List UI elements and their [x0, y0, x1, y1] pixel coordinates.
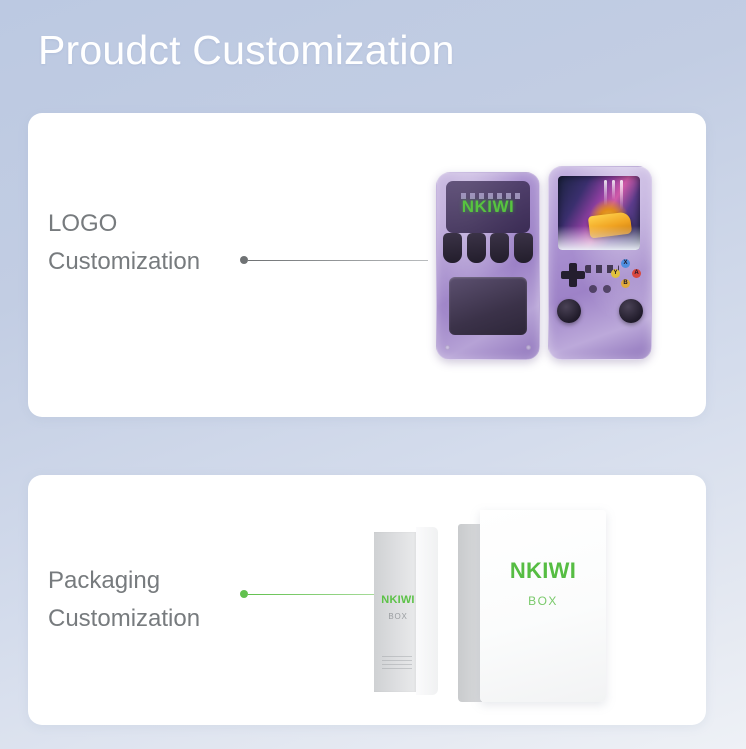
console-analog-stick-right — [619, 299, 643, 323]
screen-snow-ground — [558, 226, 640, 250]
dpad-vertical — [569, 263, 577, 287]
console-start-button — [603, 285, 611, 293]
console-screw-br — [526, 345, 531, 350]
button-y: Y — [611, 269, 620, 278]
console-dpad — [561, 263, 585, 287]
logo-customization-label: LOGO Customization — [48, 205, 200, 281]
console-rear-view: NKIWI — [436, 172, 540, 360]
console-screw-bl — [445, 345, 450, 350]
shoulder-button-r1 — [490, 233, 509, 263]
shoulder-button-r2 — [514, 233, 533, 263]
logo-connector-dot — [240, 256, 248, 264]
console-screen — [558, 176, 640, 250]
packaging-customization-label: Packaging Customization — [48, 562, 200, 638]
console-shoulder-buttons — [443, 233, 533, 263]
small-box-side-face — [416, 527, 438, 695]
small-box-fine-print — [382, 656, 412, 670]
console-select-button — [589, 285, 597, 293]
console-analog-stick-left — [557, 299, 581, 323]
console-action-buttons: X Y A B — [611, 259, 641, 289]
logo-connector-stroke — [248, 260, 428, 261]
large-box-sublabel: BOX — [480, 594, 606, 608]
packaging-connector-dot — [240, 590, 248, 598]
console-brand-logo: NKIWI — [437, 197, 539, 217]
console-battery-plate — [449, 277, 527, 335]
large-retail-box: NKIWI BOX — [458, 510, 610, 695]
packaging-connector-line — [240, 588, 380, 600]
button-b: B — [621, 279, 630, 288]
packaging-label-line1: Packaging — [48, 562, 200, 600]
handheld-console-image: NKIWI X Y A B — [420, 160, 680, 360]
screen-light-streak-2 — [612, 180, 615, 200]
logo-label-line2: Customization — [48, 243, 200, 281]
large-box-side-face — [458, 524, 482, 702]
small-box-sublabel: BOX — [377, 612, 419, 621]
packaging-image: NKIWI BOX NKIWI BOX — [360, 500, 630, 700]
large-box-brand: NKIWI — [480, 558, 606, 584]
page-title: Proudct Customization — [38, 28, 455, 73]
small-box-brand: NKIWI — [377, 594, 419, 606]
screen-light-streak-3 — [620, 180, 623, 210]
screen-light-streak-1 — [604, 180, 607, 206]
shoulder-button-l2 — [467, 233, 486, 263]
logo-connector-line — [240, 254, 428, 266]
button-a: A — [632, 269, 641, 278]
button-x: X — [621, 259, 630, 268]
small-retail-box: NKIWI BOX — [374, 532, 438, 692]
console-front-view: X Y A B — [548, 166, 652, 360]
shoulder-button-l1 — [443, 233, 462, 263]
packaging-label-line2: Customization — [48, 600, 200, 638]
logo-label-line1: LOGO — [48, 205, 200, 243]
